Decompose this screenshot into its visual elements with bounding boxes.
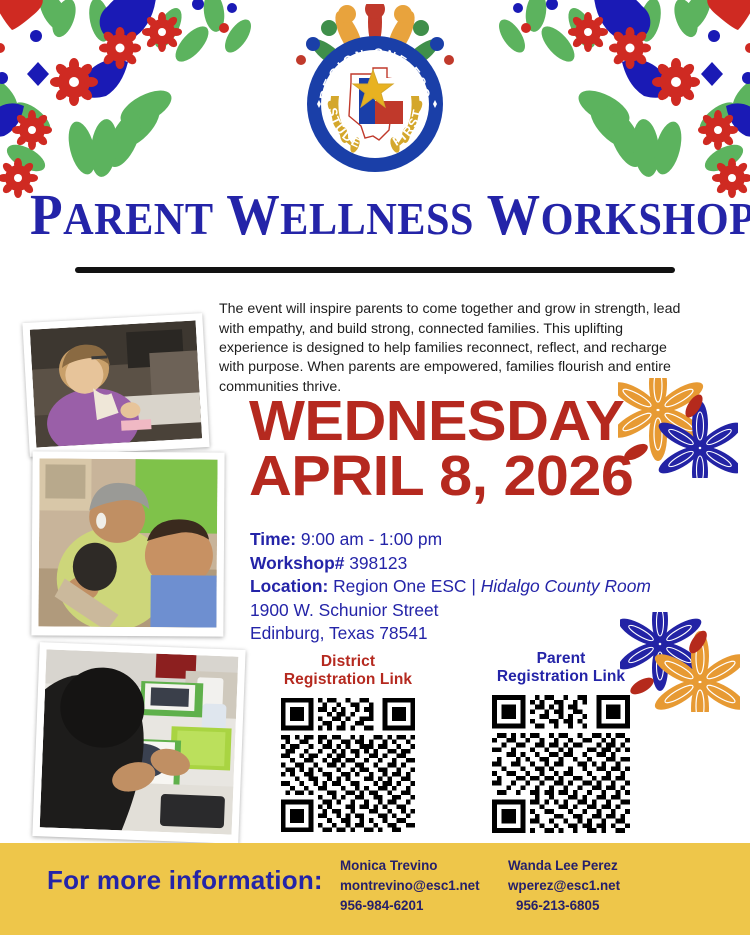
parent-registration-qr-code[interactable] [492, 695, 630, 833]
floral-ornament-right [428, 0, 750, 205]
footer-band: For more information: Monica Trevino mon… [0, 843, 750, 935]
flyer-page: REGION ONE ESC STUDENTS FIRST PARENT WEL… [0, 0, 750, 935]
detail-location-label: Location: [250, 576, 328, 596]
district-registration-block[interactable]: District Registration Link [258, 653, 438, 832]
detail-address-line1: 1900 W. Schunior Street [250, 599, 700, 623]
district-registration-label: District Registration Link [258, 653, 438, 689]
district-registration-qr-code[interactable] [281, 698, 415, 832]
contact-2-email[interactable]: wperez@esc1.net [508, 878, 620, 893]
district-label-line2: Registration Link [258, 671, 438, 689]
detail-location: Location: Region One ESC | Hidalgo Count… [250, 575, 700, 599]
detail-workshop-label: Workshop# [250, 553, 344, 573]
floral-ornament-left [0, 0, 322, 205]
detail-location-venue: Region One ESC [333, 576, 466, 596]
footer-contact-2: Wanda Lee Perez wperez@esc1.net 956-213-… [508, 856, 620, 916]
photo-parent-workshop-1 [22, 313, 209, 457]
district-label-line1: District [258, 653, 438, 671]
title-word-wellness: WELLNESS [226, 182, 474, 247]
photo-parent-workshop-2 [31, 451, 224, 636]
event-date: WEDNESDAY APRIL 8, 2026 [249, 394, 686, 504]
intro-paragraph: The event will inspire parents to come t… [219, 300, 686, 397]
photo-parent-workshop-3 [32, 642, 245, 844]
region-one-esc-seal-logo: REGION ONE ESC STUDENTS FIRST [285, 4, 465, 182]
title-word-workshop: WORKSHOP [487, 182, 750, 247]
page-title: PARENT WELLNESS WORKSHOP [30, 186, 720, 244]
detail-time-label: Time: [250, 529, 296, 549]
contact-2-phone[interactable]: 956-213-6805 [516, 896, 620, 916]
detail-time: Time: 9:00 am - 1:00 pm [250, 528, 700, 552]
footer-heading: For more information: [47, 865, 323, 896]
detail-location-separator: | [471, 576, 476, 596]
detail-workshop-value: 398123 [349, 553, 407, 573]
event-details: Time: 9:00 am - 1:00 pm Workshop# 398123… [250, 528, 700, 646]
title-word-parent: PARENT [30, 182, 214, 247]
detail-location-room: Hidalgo County Room [481, 576, 651, 596]
detail-time-value: 9:00 am - 1:00 pm [301, 529, 442, 549]
contact-1-email[interactable]: montrevino@esc1.net [340, 878, 480, 893]
parent-registration-block[interactable]: Parent Registration Link [466, 650, 656, 833]
detail-workshop: Workshop# 398123 [250, 552, 700, 576]
parent-label-line2: Registration Link [466, 668, 656, 686]
detail-address-line2: Edinburg, Texas 78541 [250, 622, 700, 646]
contact-2-name: Wanda Lee Perez [508, 856, 620, 876]
parent-label-line1: Parent [466, 650, 656, 668]
footer-contact-1: Monica Trevino montrevino@esc1.net 956-9… [340, 856, 480, 916]
title-divider-rule [75, 267, 675, 273]
contact-1-name: Monica Trevino [340, 856, 480, 876]
contact-1-phone[interactable]: 956-984-6201 [340, 896, 480, 916]
event-date-full: APRIL 8, 2026 [249, 449, 686, 504]
parent-registration-label: Parent Registration Link [466, 650, 656, 686]
